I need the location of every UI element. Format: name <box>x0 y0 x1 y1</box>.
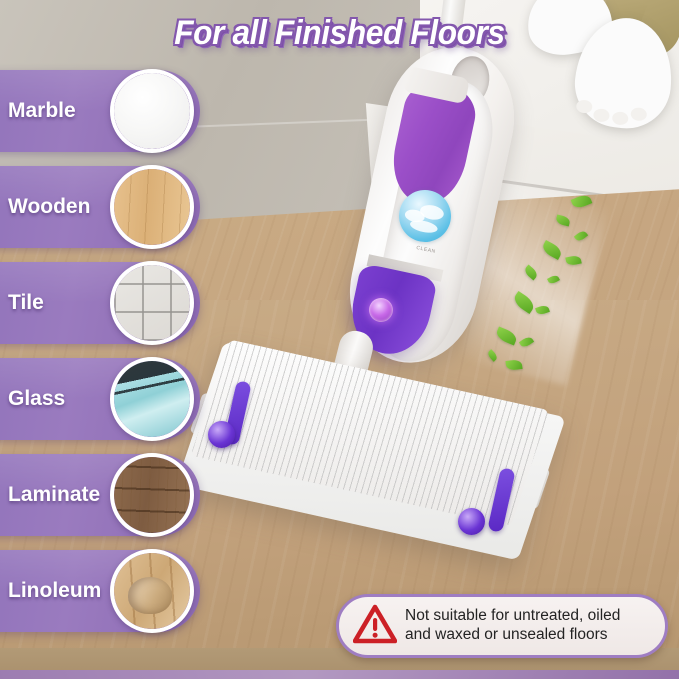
warning-triangle-icon <box>353 604 397 649</box>
warning-line-1: Not suitable for untreated, oiled <box>405 607 620 624</box>
material-pill-wooden[interactable]: Wooden <box>0 166 200 248</box>
material-pill-marble[interactable]: Marble <box>0 70 200 152</box>
page-title: For all Finished Floors <box>24 14 655 53</box>
wooden-swatch <box>110 165 194 249</box>
material-pill-glass[interactable]: Glass <box>0 358 200 440</box>
infographic-canvas: CLEAN For all Finished Floors Marble Woo… <box>0 0 679 679</box>
warning-line-2: and waxed or unsealed floors <box>405 626 608 643</box>
warning-callout: Not suitable for untreated, oiled and wa… <box>336 594 668 658</box>
glass-swatch <box>110 357 194 441</box>
linoleum-swatch <box>110 549 194 633</box>
material-pill-linoleum[interactable]: Linoleum <box>0 550 200 632</box>
material-pill-tile[interactable]: Tile <box>0 262 200 344</box>
warning-text: Not suitable for untreated, oiled and wa… <box>405 607 620 645</box>
marble-swatch <box>110 69 194 153</box>
pad-clip-right <box>458 508 485 535</box>
material-pill-laminate[interactable]: Laminate <box>0 454 200 536</box>
pad-clip-left <box>208 421 235 448</box>
laminate-swatch <box>110 453 194 537</box>
tile-swatch <box>110 261 194 345</box>
